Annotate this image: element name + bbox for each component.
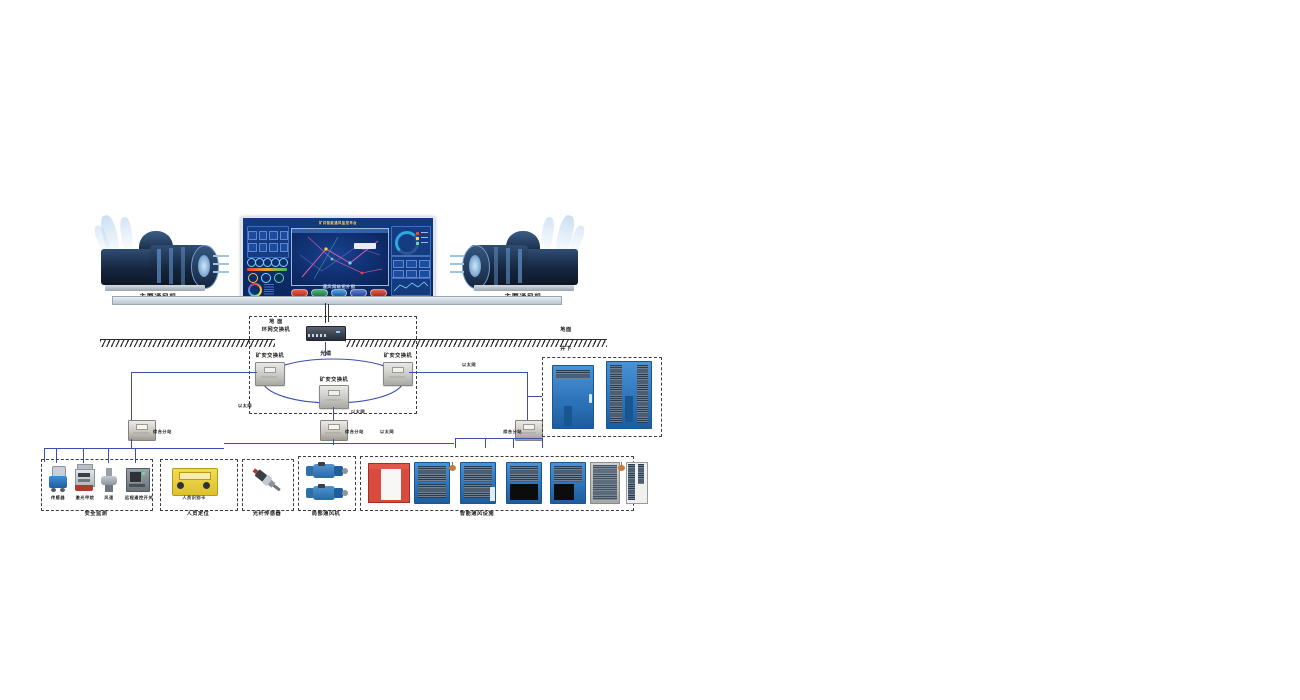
device-bus-center-drop: [333, 439, 334, 445]
vent-air-door-4[interactable]: [550, 462, 586, 504]
screen-title: 矿井智能通风监控平台: [243, 220, 433, 225]
device-fiber-probe[interactable]: [250, 466, 286, 496]
vent-air-door-2[interactable]: [460, 462, 496, 504]
monitor-left-panel[interactable]: [247, 226, 289, 258]
device-bus-center: [224, 443, 454, 444]
monitor-status-rings: [247, 258, 287, 266]
monitor-stand: [112, 296, 562, 305]
substation-1[interactable]: [128, 420, 154, 439]
group-safety-monitoring-label: 安全监测: [61, 512, 131, 518]
substation-2[interactable]: [320, 420, 346, 439]
drop-vent-2: [485, 438, 486, 448]
underground-air-door-2[interactable]: [606, 361, 652, 429]
drop-vent-4: [542, 438, 543, 448]
monitor-data-panel[interactable]: [391, 256, 431, 278]
substation-1-label: 综合分站: [153, 430, 187, 434]
ethernet-left-horizontal: [131, 372, 257, 373]
device-personnel-id-card-label: 人员识别卡: [166, 496, 222, 500]
device-personnel-id-card[interactable]: [172, 468, 216, 494]
ring-switch-right[interactable]: [383, 362, 411, 384]
device-local-fan-1[interactable]: [306, 462, 348, 480]
monitor-to-switch-link: [325, 303, 326, 323]
surface-zone-label: 地 面: [252, 320, 300, 326]
substation-2-label: 综合分站: [345, 430, 379, 434]
device-bus-right: [455, 438, 543, 439]
group-intelligent-ventilation-label: 智能通风设施: [432, 512, 522, 518]
ring-switch-bottom[interactable]: [319, 385, 347, 407]
ethernet-right-horizontal: [409, 372, 528, 373]
ring-switch-left-label: 矿安交换机: [249, 354, 291, 360]
ring-switch-right-label: 矿安交换机: [377, 354, 419, 360]
vent-air-door-1[interactable]: [414, 462, 450, 504]
monitor-gauge-panel[interactable]: [391, 226, 431, 256]
ethernet-label-center: 以太网: [341, 410, 375, 414]
substation-3-label: 综合分站: [488, 430, 522, 434]
group-local-fan-label: 局部通风机: [291, 512, 361, 518]
vent-actuator-2: [618, 462, 625, 471]
ethernet-left-vertical: [131, 372, 132, 420]
device-bus-left-feed: [131, 439, 132, 449]
device-blue-sensor[interactable]: [48, 466, 68, 494]
surface-label: 地面: [548, 328, 584, 334]
ring-switch-left[interactable]: [255, 362, 283, 384]
device-bus-left: [44, 448, 224, 449]
monitor-donut-row: [247, 273, 287, 282]
ventilation-network-map[interactable]: [291, 228, 389, 286]
control-monitor[interactable]: 矿井智能通风监控平台: [241, 216, 435, 300]
drop-vent-3: [513, 438, 514, 448]
ethernet-center-vertical: [333, 407, 334, 421]
device-remote-controller[interactable]: [126, 468, 148, 492]
vent-red-frame[interactable]: [368, 463, 410, 503]
antenna-icon: [328, 304, 329, 322]
diagram-canvas: 主要通风机 主要通风机 矿井智能通风监控平台: [0, 0, 1300, 700]
vent-actuator-1: [449, 462, 456, 471]
ethernet-label-left: 以太网: [228, 404, 262, 408]
ethernet-label-right: 以太网: [452, 363, 486, 367]
vent-grey-window[interactable]: [626, 462, 646, 502]
underground-label: 井下: [548, 347, 584, 353]
map-tooltip: [354, 243, 376, 249]
monitor-trend-panel: [391, 278, 431, 296]
vent-grey-regulator[interactable]: [590, 462, 620, 504]
underground-air-door-1[interactable]: [552, 365, 594, 429]
device-local-fan-2[interactable]: [306, 484, 348, 502]
device-laser-methane[interactable]: [74, 464, 94, 494]
device-remote-controller-label: 远程遥控开关: [119, 496, 159, 500]
drop-vent-1: [455, 438, 456, 448]
ring-switch-bottom-label: 矿安交换机: [313, 378, 355, 384]
device-anemometer[interactable]: [101, 468, 117, 494]
group-personnel-positioning-label: 人员定位: [163, 512, 233, 518]
vent-air-door-3[interactable]: [506, 462, 542, 504]
surface-switch-label: 环网交换机: [248, 328, 304, 334]
substation3-to-doors-link: [528, 396, 542, 397]
surface-ring-switch[interactable]: [306, 322, 344, 342]
